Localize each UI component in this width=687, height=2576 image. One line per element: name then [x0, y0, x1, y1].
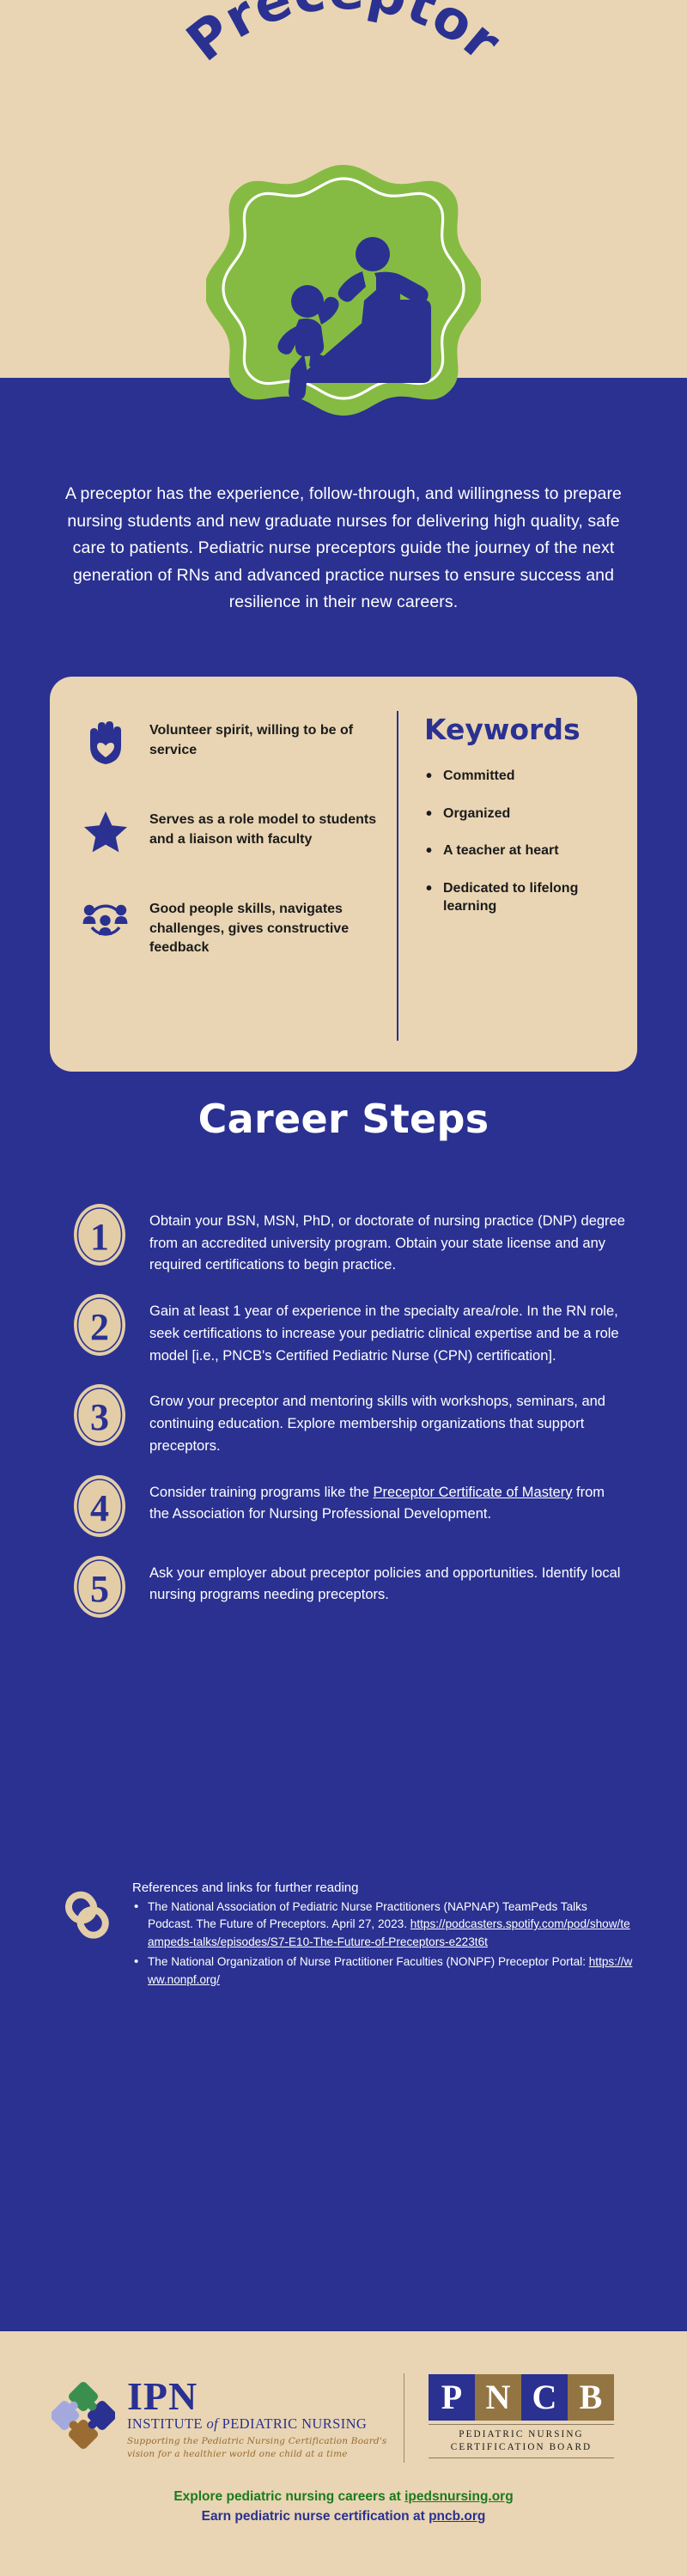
trait-item: Serves as a role model to students and a… — [79, 805, 385, 859]
pncb-subtitle: PEDIATRIC NURSING CERTIFICATION BOARD — [429, 2428, 614, 2453]
footer: IPN INSTITUTE of PEDIATRIC NURSING Suppo… — [0, 2331, 687, 2576]
step-number-medallion: 4 — [72, 1473, 127, 1539]
career-steps-list: 1 Obtain your BSN, MSN, PhD, or doctorat… — [0, 1202, 687, 1635]
ipn-name-after: PEDIATRIC NURSING — [218, 2415, 367, 2432]
step-number-medallion: 1 — [72, 1202, 127, 1267]
four-puzzle-pieces-icon — [52, 2382, 115, 2453]
traits-keywords-card: Volunteer spirit, willing to be of servi… — [50, 677, 637, 1072]
career-step: 1 Obtain your BSN, MSN, PhD, or doctorat… — [72, 1202, 625, 1277]
references-title: References and links for further reading — [132, 1880, 635, 1895]
step-text: Grow your preceptor and mentoring skills… — [149, 1382, 625, 1457]
pncb-logo: P N C B PEDIATRIC NURSING CERTIFICATION … — [415, 2374, 614, 2461]
trait-item: Volunteer spirit, willing to be of servi… — [79, 716, 385, 769]
arched-title-svg: Preceptor — [120, 24, 567, 153]
step-number: 4 — [90, 1487, 109, 1529]
pncb-link[interactable]: pncb.org — [429, 2509, 485, 2524]
career-step: 5 Ask your employer about preceptor poli… — [72, 1554, 625, 1619]
keyword-item: Dedicated to lifelong learning — [424, 879, 611, 916]
keywords-list: Committed Organized A teacher at heart D… — [424, 767, 611, 916]
trait-label: Volunteer spirit, willing to be of servi… — [149, 716, 385, 760]
step-text: Ask your employer about preceptor polici… — [149, 1554, 625, 1607]
pncb-letter-c: C — [521, 2374, 568, 2421]
intro-paragraph: A preceptor has the experience, follow-t… — [0, 481, 687, 617]
hand-with-heart-icon — [79, 716, 132, 769]
preceptor-certificate-link[interactable]: Preceptor Certificate of Mastery — [373, 1485, 572, 1500]
trait-label: Serves as a role model to students and a… — [149, 805, 385, 849]
cta-line-certification: Earn pediatric nurse certification at pn… — [0, 2506, 687, 2526]
cta-line2-text: Earn pediatric nurse certification at — [202, 2509, 429, 2524]
keyword-item: A teacher at heart — [424, 841, 611, 860]
pncb-letter-b: B — [568, 2374, 614, 2421]
step-text: Obtain your BSN, MSN, PhD, or doctorate … — [149, 1202, 625, 1277]
step4-text-before: Consider training programs like the — [149, 1485, 373, 1500]
card-vertical-divider — [397, 711, 398, 1041]
step-text: Gain at least 1 year of experience in th… — [149, 1292, 625, 1367]
career-step: 4 Consider training programs like the Pr… — [72, 1473, 625, 1539]
pncb-rule-bottom — [429, 2458, 614, 2458]
cta-line1-text: Explore pediatric nursing careers at — [173, 2489, 404, 2504]
title-text: Preceptor — [175, 0, 514, 74]
keyword-item: Committed — [424, 767, 611, 786]
step-number-medallion: 3 — [72, 1382, 127, 1448]
ipn-logo: IPN INSTITUTE of PEDIATRIC NURSING Suppo… — [0, 2375, 404, 2461]
reference-text: The National Organization of Nurse Pract… — [148, 1955, 589, 1968]
pncb-letter-p: P — [429, 2374, 475, 2421]
references-list: The National Association of Pediatric Nu… — [132, 1899, 635, 1989]
keyword-item: Organized — [424, 805, 611, 823]
step-number: 5 — [90, 1568, 109, 1610]
career-step: 3 Grow your preceptor and mentoring skil… — [72, 1382, 625, 1457]
ipn-acronym: IPN — [127, 2379, 387, 2415]
preceptor-badge — [206, 161, 481, 436]
trait-label: Good people skills, navigates challenges… — [149, 895, 385, 958]
step-number-medallion: 2 — [72, 1292, 127, 1358]
pncb-rule-top — [429, 2424, 614, 2425]
ipn-text-block: IPN INSTITUTE of PEDIATRIC NURSING Suppo… — [127, 2375, 387, 2461]
ipn-tagline-line2: vision for a healthier world one child a… — [127, 2448, 387, 2461]
page-title: Preceptor — [0, 24, 687, 153]
pncb-letter-blocks: P N C B — [429, 2374, 614, 2421]
ipn-full-name: INSTITUTE of PEDIATRIC NURSING — [127, 2415, 387, 2433]
references-section: References and links for further reading… — [0, 1879, 687, 1991]
references-body: References and links for further reading… — [132, 1879, 635, 1991]
star-icon — [79, 805, 132, 859]
career-step: 2 Gain at least 1 year of experience in … — [72, 1292, 625, 1367]
reference-item: The National Association of Pediatric Nu… — [132, 1899, 635, 1951]
cta-line-careers: Explore pediatric nursing careers at ipe… — [0, 2487, 687, 2506]
people-group-icon — [79, 895, 132, 948]
reference-item: The National Organization of Nurse Pract… — [132, 1953, 635, 1989]
ipn-tagline: Supporting the Pediatric Nursing Certifi… — [127, 2435, 387, 2461]
keywords-title: Keywords — [424, 713, 611, 746]
pncb-subtitle-line2: CERTIFICATION BOARD — [429, 2441, 614, 2454]
traits-column: Volunteer spirit, willing to be of servi… — [79, 706, 385, 1048]
step-number-medallion: 5 — [72, 1554, 127, 1619]
ipedsnursing-link[interactable]: ipedsnursing.org — [404, 2489, 514, 2504]
keywords-column: Keywords Committed Organized A teacher a… — [424, 706, 611, 1048]
ipn-tagline-line1: Supporting the Pediatric Nursing Certifi… — [127, 2435, 387, 2448]
infographic-page: Preceptor A preceptor has — [0, 0, 687, 2576]
step-number: 1 — [90, 1216, 109, 1258]
step-number: 3 — [90, 1396, 109, 1438]
link-chain-icon — [65, 1879, 113, 1932]
pncb-subtitle-line1: PEDIATRIC NURSING — [429, 2428, 614, 2441]
step-text: Consider training programs like the Prec… — [149, 1473, 625, 1526]
step-number: 2 — [90, 1306, 109, 1348]
footer-divider — [404, 2373, 404, 2463]
pncb-letter-n: N — [475, 2374, 521, 2421]
call-to-action: Explore pediatric nursing careers at ipe… — [0, 2487, 687, 2527]
ipn-name-italic: of — [206, 2415, 218, 2432]
ipn-name-before: INSTITUTE — [127, 2415, 206, 2432]
footer-logos: IPN INSTITUTE of PEDIATRIC NURSING Suppo… — [0, 2354, 687, 2482]
trait-item: Good people skills, navigates challenges… — [79, 895, 385, 958]
career-steps-heading: Career Steps — [0, 1096, 687, 1142]
two-people-climbing-helping-icon — [206, 161, 481, 436]
